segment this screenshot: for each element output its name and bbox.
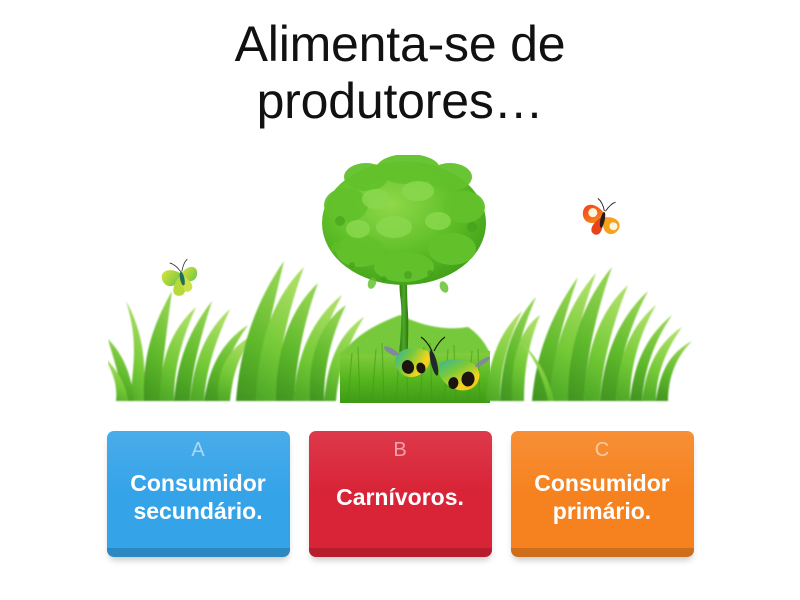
grass-right — [520, 267, 692, 401]
page-title: Alimenta-se de produtores… — [40, 16, 760, 130]
answer-option-b[interactable]: B Carnívoros. — [309, 431, 492, 557]
question-illustration — [108, 155, 692, 403]
answer-option-c[interactable]: C Consumidor primário. — [511, 431, 694, 557]
grass-center-right — [486, 297, 540, 401]
answer-label-c: Consumidor primário. — [519, 464, 686, 543]
answer-options: A Consumidor secundário. B Carnívoros. C… — [0, 431, 800, 557]
grass-tree-butterflies-illustration — [108, 155, 692, 403]
butterfly-right-icon — [579, 196, 625, 239]
answer-option-a[interactable]: A Consumidor secundário. — [107, 431, 290, 557]
quiz-question-screen: Alimenta-se de produtores… — [0, 0, 800, 600]
answer-letter-b: B — [393, 439, 406, 462]
answer-label-a: Consumidor secundário. — [115, 464, 282, 543]
answer-label-b: Carnívoros. — [336, 464, 464, 543]
grass-left — [108, 291, 254, 401]
answer-letter-a: A — [191, 439, 204, 462]
answer-letter-c: C — [595, 439, 609, 462]
butterfly-left-icon — [159, 258, 201, 299]
